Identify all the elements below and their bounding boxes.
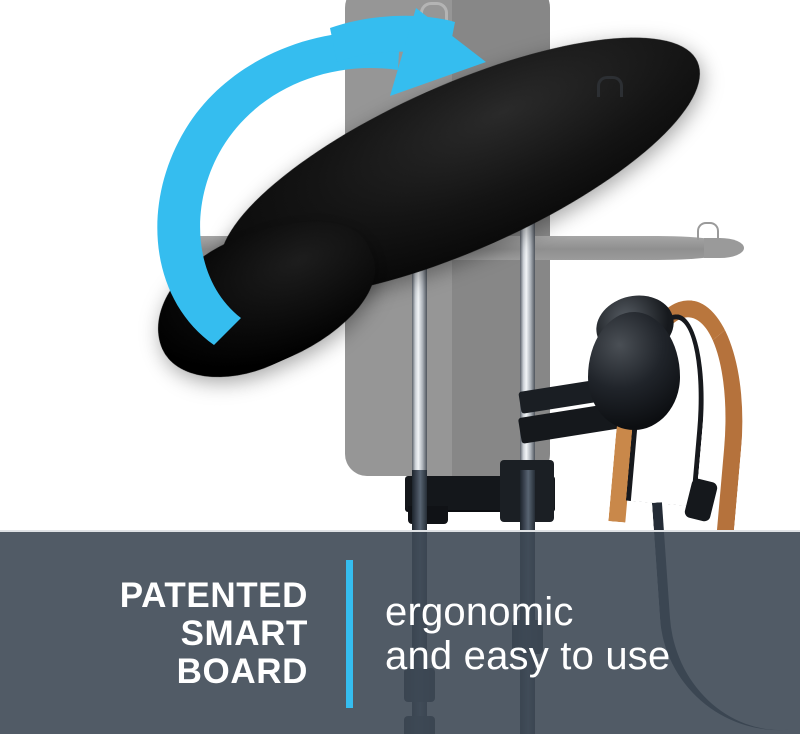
banner-left-line-1: PATENTED [0,577,308,615]
bottom-banner: PATENTED SMART BOARD ergonomic and easy … [0,530,800,734]
accent-divider [346,560,353,708]
banner-left-line-2: SMART [0,615,308,653]
banner-right-text: ergonomic and easy to use [353,590,670,678]
banner-right-line-2: and easy to use [385,634,670,678]
banner-left-line-3: BOARD [0,653,308,691]
banner-left-text: PATENTED SMART BOARD [0,577,330,690]
banner-right-line-1: ergonomic [385,590,670,634]
product-marketing-image: PATENTED SMART BOARD ergonomic and easy … [0,0,800,734]
